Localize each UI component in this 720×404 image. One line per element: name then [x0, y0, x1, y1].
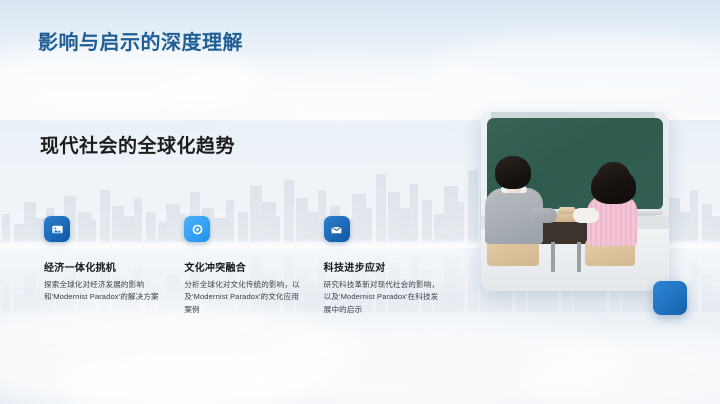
skyline-building-reflection: [14, 294, 24, 312]
skyline-building: [668, 198, 680, 242]
skyline-building-reflection: [468, 256, 478, 312]
feature-body: 分析全球化对文化传统的影响，以及'Modernist Paradox'的文化应用…: [184, 279, 302, 316]
skyline-building-reflection: [690, 260, 698, 312]
photo-desk-leg: [551, 242, 555, 272]
feature-title: 文化冲突融合: [184, 259, 323, 274]
target-ring-icon[interactable]: [184, 216, 210, 242]
photo-desk-leg: [577, 242, 581, 272]
sky-haze: [0, 0, 720, 120]
photo-student-boy-head: [495, 156, 531, 189]
photo-student-girl-head: [597, 162, 630, 193]
feature-columns: 经济一体化挑机 探索全球化对经济发展的影响和'Modernist Paradox…: [44, 216, 464, 316]
feature-column: 文化冲突融合 分析全球化对文化传统的影响，以及'Modernist Parado…: [184, 216, 323, 316]
feature-title: 科技进步应对: [324, 259, 464, 274]
photo-student-girl-arm: [573, 208, 599, 223]
skyline-building-reflection: [2, 284, 10, 312]
slide-canvas: 影响与启示的深度理解 现代社会的全球化趋势 经济一体化挑机 探索全球化对经济发展…: [0, 0, 720, 404]
photo-desk-front: [535, 222, 589, 244]
section-heading: 现代社会的全球化趋势: [40, 131, 235, 158]
photo-student-boy-arm: [529, 208, 557, 223]
skyline-building-reflection: [712, 286, 720, 312]
feature-title: 经济一体化挑机: [44, 259, 184, 274]
skyline-building: [468, 170, 478, 242]
skyline-building: [690, 190, 698, 242]
classroom-photo: [481, 112, 669, 291]
feature-body: 探索全球化对经济发展的影响和'Modernist Paradox'的解决方案: [44, 279, 162, 304]
cloud-decor: [60, 352, 300, 404]
feature-body: 研究科技革新对现代社会的影响，以及'Modernist Paradox'在科技发…: [324, 279, 442, 316]
mail-envelope-icon[interactable]: [324, 216, 350, 242]
image-picture-icon[interactable]: [44, 216, 70, 242]
page-title: 影响与启示的深度理解: [38, 26, 243, 55]
skyline-building: [702, 204, 712, 242]
skyline-building-reflection: [702, 274, 712, 312]
accent-square: [653, 281, 687, 315]
feature-column: 科技进步应对 研究科技革新对现代社会的影响，以及'Modernist Parad…: [324, 216, 464, 316]
feature-column: 经济一体化挑机 探索全球化对经济发展的影响和'Modernist Paradox…: [44, 216, 184, 316]
